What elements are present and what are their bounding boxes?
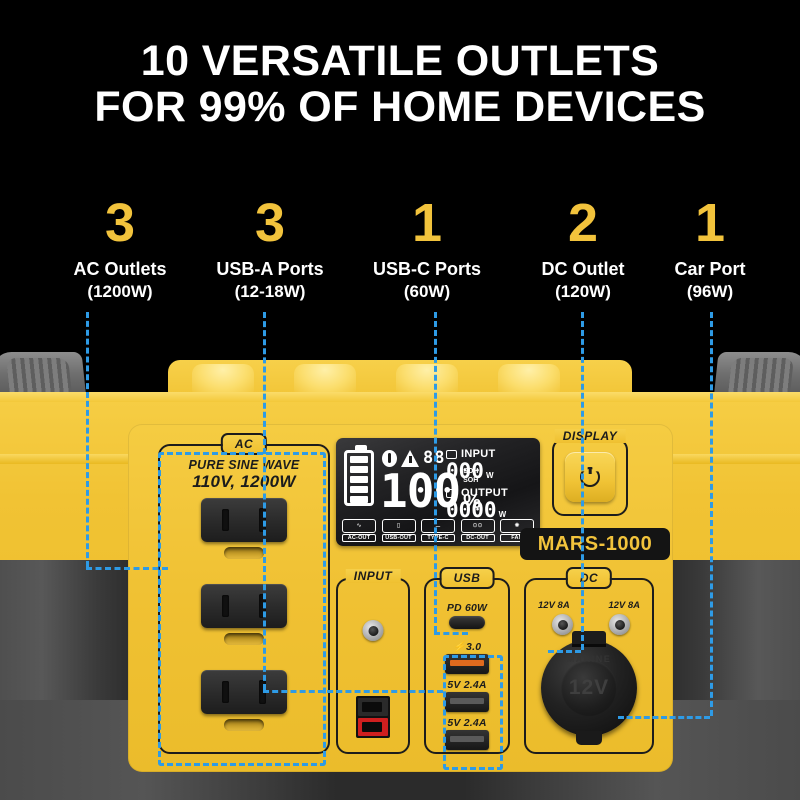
poster-canvas: 10 VERSATILE OUTLETS FOR 99% OF HOME DEV…	[0, 0, 800, 800]
callout-number: 1	[628, 196, 792, 250]
input-section-title: INPUT	[346, 569, 401, 583]
lcd-chip-dc-out: ⊙⊙ DC-OUT	[461, 519, 495, 543]
display-power-button[interactable]	[565, 452, 615, 502]
leader-line-ac-horizontal	[86, 567, 168, 570]
usb-qc-value: 3.0	[466, 641, 481, 653]
lcd-chip-label: USB-OUT	[382, 534, 416, 542]
device-body-gray-left	[0, 560, 140, 700]
dc-barrel-jack-right[interactable]	[609, 614, 630, 635]
leader-line-usb-a-horizontal	[263, 690, 443, 693]
callout-car-port: 1 Car Port (96W)	[628, 196, 792, 303]
input-dc-barrel-jack[interactable]	[363, 620, 384, 641]
dc-section: DC 12V 8A 12V 8A MARINE 12V	[524, 578, 654, 754]
display-button-title: DISPLAY	[555, 429, 626, 443]
carport-marine-label: MARINE	[541, 654, 637, 664]
leader-line-usb-c-vertical	[434, 312, 437, 632]
callout-power: (96W)	[628, 281, 792, 303]
leader-line-car-port-vertical	[710, 312, 713, 716]
lcd-input-unit: W	[486, 471, 494, 480]
ac-wave-icon: ∿	[342, 519, 376, 533]
lcd-input-value: 000	[446, 459, 484, 483]
car-port-12v-socket[interactable]: MARINE 12V	[541, 640, 637, 736]
leader-line-usb-a-vertical	[263, 312, 266, 690]
leader-line-dc-vertical	[581, 312, 584, 650]
page-title: 10 VERSATILE OUTLETS FOR 99% OF HOME DEV…	[0, 38, 800, 131]
input-arrow-icon	[446, 450, 457, 459]
display-button-section: DISPLAY	[552, 438, 628, 516]
headline-line-2: FOR 99% OF HOME DEVICES	[0, 84, 800, 130]
dc-section-title: DC	[566, 567, 612, 589]
leader-line-ac-vertical	[86, 312, 89, 567]
lcd-chip-usb-out: ▯ USB-OUT	[382, 519, 416, 543]
brand-badge: MARS-1000	[520, 528, 670, 560]
lcd-chip-label: AC-OUT	[342, 534, 376, 542]
usb-c-icon: ⚊	[421, 519, 455, 533]
lcd-chip-label: TYPE-C	[421, 534, 455, 542]
lcd-power-readouts: INPUT 000W OUTPUT 0000W	[446, 448, 532, 526]
dc-icon: ⊙⊙	[461, 519, 495, 533]
lightning-icon: ⚡	[453, 641, 466, 653]
dc-jack-left-label: 12V 8A	[538, 600, 570, 611]
input-terminal-block[interactable]	[356, 696, 390, 738]
terminal-positive[interactable]	[358, 718, 388, 736]
lcd-chip-type-c: ⚊ TYPE-C	[421, 519, 455, 543]
device-body-gray-right	[660, 560, 800, 700]
headline-line-1: 10 VERSATILE OUTLETS	[141, 37, 660, 85]
usb-pd-label: PD 60W	[426, 602, 508, 614]
highlight-box-usb-a-ports	[443, 655, 503, 770]
lcd-chip-label: DC-OUT	[461, 534, 495, 542]
carport-value-label: 12V	[561, 660, 617, 716]
usb-qc-label: ⚡3.0	[426, 640, 508, 653]
lcd-display: 88 100 SOH SOH % INPUT 0	[336, 438, 540, 546]
lcd-indicator-row: ∿ AC-OUT ▯ USB-OUT ⚊ TYPE-C ⊙⊙ DC-OUT	[342, 519, 534, 543]
input-section: INPUT	[336, 578, 410, 754]
leader-line-usb-c-horizontal	[434, 632, 468, 635]
dc-jack-right-label: 12V 8A	[608, 600, 640, 611]
power-station-device: AC PURE SINE WAVE 110V, 1200W	[0, 352, 800, 800]
callout-label: Car Port	[628, 258, 792, 281]
terminal-negative[interactable]	[358, 698, 388, 716]
lcd-chip-ac-out: ∿ AC-OUT	[342, 519, 376, 543]
output-arrow-icon	[446, 489, 457, 498]
leader-line-dc-horizontal	[548, 650, 581, 653]
dc-barrel-jack-left[interactable]	[552, 614, 573, 635]
usb-section-title: USB	[440, 567, 495, 589]
usb-c-port[interactable]	[449, 616, 485, 629]
leader-line-car-port-horizontal	[618, 716, 710, 719]
highlight-box-ac-outlets	[158, 452, 326, 766]
lcd-input-value-row: 000W	[446, 461, 532, 482]
battery-level-icon	[344, 450, 374, 506]
usb-a-icon: ▯	[382, 519, 416, 533]
